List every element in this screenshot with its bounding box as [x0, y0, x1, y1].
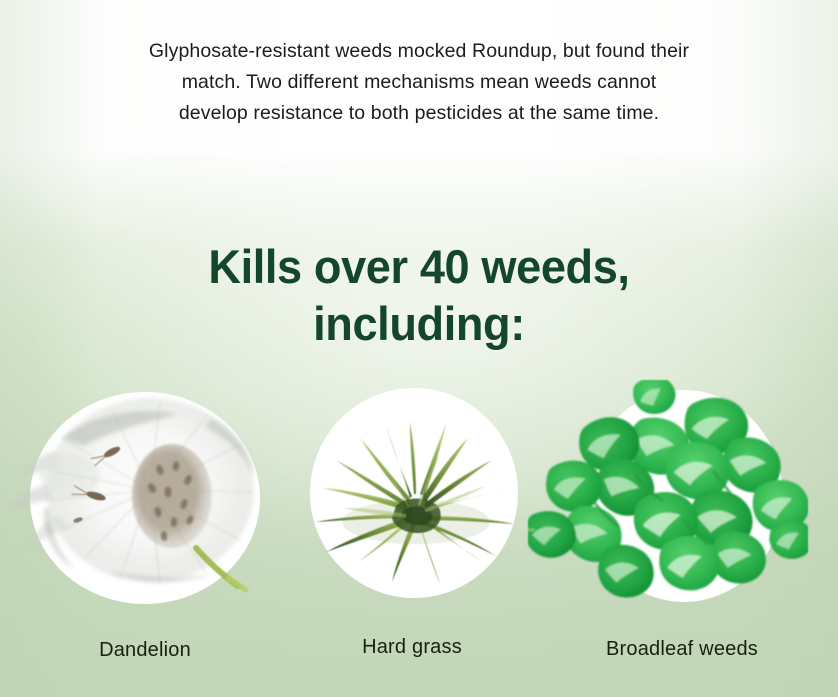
caption-broadleaf-weeds: Broadleaf weeds	[582, 638, 782, 661]
headline-line-1: Kills over 40 weeds,	[17, 238, 821, 295]
grass-tuft-icon	[300, 380, 532, 610]
figure-broadleaf-weeds	[528, 380, 808, 610]
figure-hard-grass	[300, 380, 532, 610]
intro-line-2: match. Two different mechanisms mean wee…	[60, 67, 778, 98]
poster: Glyphosate-resistant weeds mocked Roundu…	[0, 0, 838, 697]
caption-dandelion: Dandelion	[45, 639, 245, 662]
intro-line-3: develop resistance to both pesticides at…	[60, 98, 778, 129]
figure-dandelion	[0, 380, 290, 610]
intro-line-1: Glyphosate-resistant weeds mocked Roundu…	[60, 36, 778, 67]
dandelion-seedhead-icon	[0, 380, 290, 610]
intro-paragraph: Glyphosate-resistant weeds mocked Roundu…	[60, 36, 778, 129]
headline-line-2: including:	[17, 295, 821, 352]
headline: Kills over 40 weeds, including:	[0, 238, 838, 352]
caption-hard-grass: Hard grass	[312, 636, 512, 659]
clover-leaves-icon	[528, 380, 808, 610]
